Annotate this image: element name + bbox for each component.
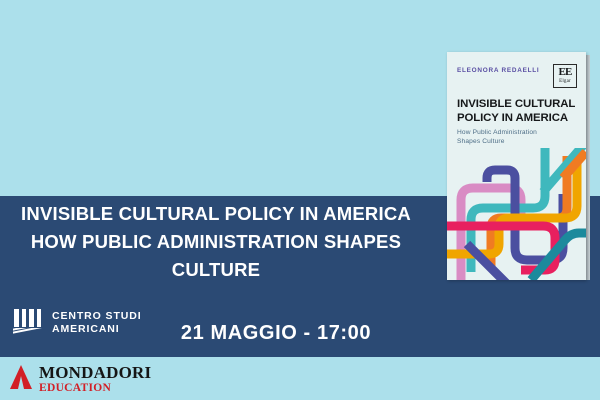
mondadori-sub: EDUCATION (39, 382, 151, 395)
book-title-line-1: INVISIBLE CULTURAL (457, 97, 575, 111)
centro-studi-americani-logo: CENTRO STUDI AMERICANI (13, 309, 142, 336)
book-title-line-2: POLICY IN AMERICA (457, 111, 575, 125)
book-cover: ELEONORA REDAELLI INVISIBLE CULTURAL POL… (447, 52, 586, 280)
headline-line-1: INVISIBLE CULTURAL POLICY IN AMERICA (0, 200, 432, 228)
classical-columns-icon (13, 309, 43, 336)
event-headline: INVISIBLE CULTURAL POLICY IN AMERICA HOW… (0, 200, 432, 284)
centro-studi-americani-wordmark: CENTRO STUDI AMERICANI (52, 310, 142, 335)
book-author: ELEONORA REDAELLI (457, 67, 539, 74)
edward-elgar-publisher-logo: EE Elgar (553, 64, 577, 88)
headline-line-3: CULTURE (0, 256, 432, 284)
book-image: ELEONORA REDAELLI INVISIBLE CULTURAL POL… (447, 52, 586, 280)
mondadori-a-mark-icon (10, 365, 33, 389)
headline-line-2: HOW PUBLIC ADMINISTRATION SHAPES (0, 228, 432, 256)
book-subtitle-line-2: Shapes Culture (457, 137, 537, 146)
book-subtitle-line-1: How Public Administration (457, 128, 537, 137)
mondadori-education-logo: MONDADORI EDUCATION (10, 364, 151, 395)
publisher-mark: EE (554, 66, 576, 79)
mondadori-wordmark: MONDADORI EDUCATION (39, 364, 151, 395)
csa-line-2: AMERICANI (52, 323, 142, 336)
event-date-time: 21 MAGGIO - 17:00 (120, 322, 432, 345)
mondadori-name: MONDADORI (39, 364, 151, 381)
book-title: INVISIBLE CULTURAL POLICY IN AMERICA (457, 97, 575, 125)
event-poster: INVISIBLE CULTURAL POLICY IN AMERICA HOW… (0, 0, 600, 400)
book-subtitle: How Public Administration Shapes Culture (457, 128, 537, 146)
cover-artwork-ribbons (447, 148, 586, 280)
csa-line-1: CENTRO STUDI (52, 310, 142, 323)
publisher-name: Elgar (554, 79, 576, 85)
